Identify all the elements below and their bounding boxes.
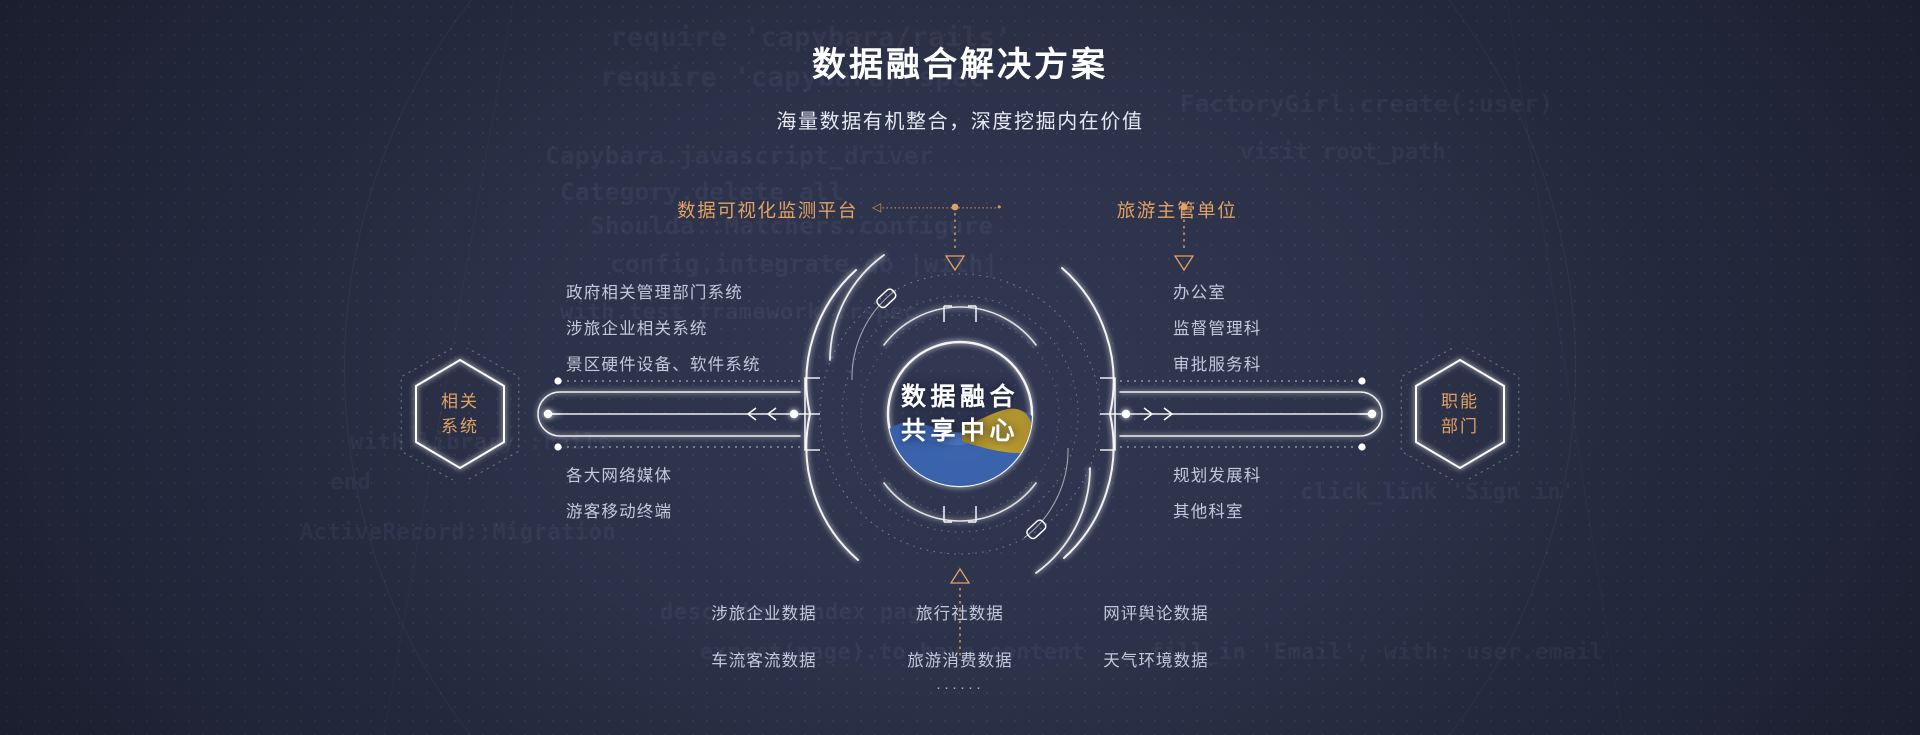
core-label: 数据融合 共享中心	[750, 380, 1170, 448]
right-label-bottom-0: 规划发展科	[1173, 462, 1262, 486]
left-label-top-2: 景区硬件设备、软件系统	[566, 351, 761, 375]
core-label-line2: 共享中心	[750, 414, 1170, 448]
bottom-label-3: 车流客流数据	[689, 647, 839, 671]
bottom-label-0: 涉旅企业数据	[689, 600, 839, 624]
right-label-top-1: 监督管理科	[1173, 315, 1262, 339]
left-label-top-0: 政府相关管理部门系统	[566, 279, 743, 303]
right-hexagon-line2: 部门	[1400, 414, 1520, 439]
left-hexagon[interactable]: 相关 系统	[400, 348, 520, 480]
left-hexagon-line1: 相关	[400, 389, 520, 414]
left-hexagon-line2: 系统	[400, 414, 520, 439]
bottom-label-1: 旅行社数据	[885, 600, 1035, 624]
bottom-data-sources: 涉旅企业数据 旅行社数据 网评舆论数据 车流客流数据 旅游消费数据 天气环境数据	[689, 600, 1231, 671]
right-label-top-0: 办公室	[1173, 279, 1226, 303]
right-label-bottom-1: 其他科室	[1173, 498, 1244, 522]
right-label-top-2: 审批服务科	[1173, 351, 1262, 375]
bottom-label-4: 旅游消费数据	[885, 647, 1035, 671]
page-subtitle: 海量数据有机整合，深度挖掘内在价值	[0, 105, 1920, 134]
left-label-bottom-0: 各大网络媒体	[566, 462, 672, 486]
core-sphere[interactable]: 数据融合 共享中心	[750, 204, 1170, 624]
core-label-line1: 数据融合	[750, 380, 1170, 414]
bottom-label-5: 天气环境数据	[1081, 647, 1231, 671]
right-hexagon-line1: 职能	[1400, 389, 1520, 414]
left-label-bottom-1: 游客移动终端	[566, 498, 672, 522]
bottom-more-indicator: ······	[936, 679, 984, 696]
bottom-label-2: 网评舆论数据	[1081, 600, 1231, 624]
page-title: 数据融合解决方案	[0, 37, 1920, 86]
left-hexagon-label: 相关 系统	[400, 389, 520, 439]
left-label-top-1: 涉旅企业相关系统	[566, 315, 708, 339]
right-hexagon[interactable]: 职能 部门	[1400, 348, 1520, 480]
right-hexagon-label: 职能 部门	[1400, 389, 1520, 439]
hero-banner: require 'capybara/rails'require 'capybar…	[0, 0, 1920, 735]
